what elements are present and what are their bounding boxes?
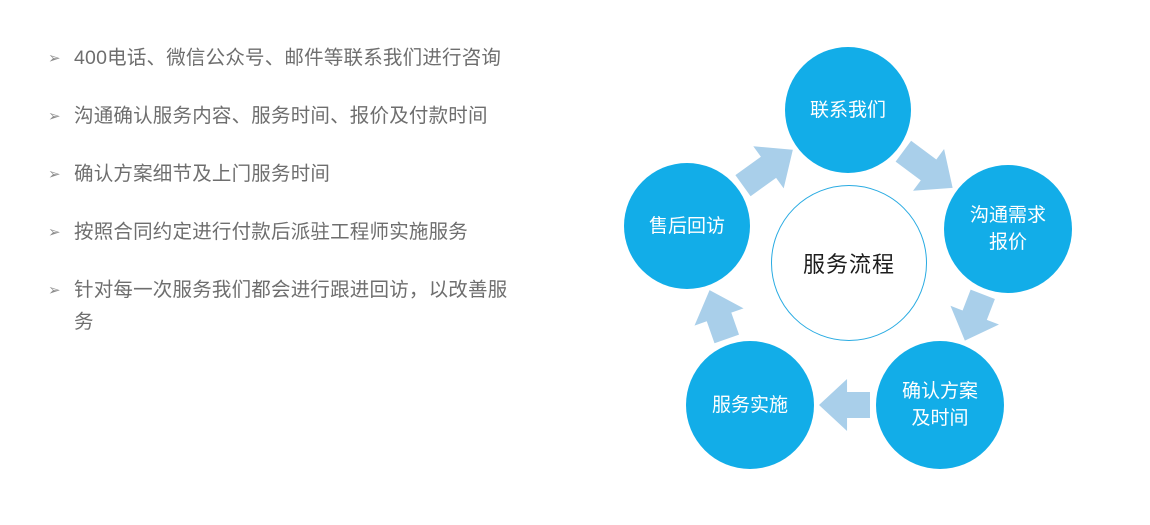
cycle-center-hub: 服务流程 bbox=[771, 185, 927, 341]
cycle-arrow-requirements-quote-to-confirm-plan-time bbox=[950, 290, 999, 341]
cycle-arrow-after-sales-visit-to-contact-us bbox=[735, 146, 792, 196]
cycle-node-label: 确认方案 bbox=[902, 378, 978, 405]
list-item: ➢确认方案细节及上门服务时间 bbox=[48, 158, 518, 190]
list-item: ➢针对每一次服务我们都会进行跟进回访，以改善服务 bbox=[48, 274, 518, 338]
cycle-node-label: 服务实施 bbox=[712, 392, 788, 419]
bullet-arrow-icon: ➢ bbox=[48, 158, 74, 190]
bullet-arrow-icon: ➢ bbox=[48, 274, 74, 306]
cycle-node-label: 报价 bbox=[989, 229, 1027, 256]
cycle-node-label: 及时间 bbox=[911, 405, 968, 432]
cycle-node-contact-us[interactable]: 联系我们 bbox=[785, 47, 911, 173]
bullet-arrow-icon: ➢ bbox=[48, 216, 74, 248]
service-steps-list: ➢400电话、微信公众号、邮件等联系我们进行咨询➢沟通确认服务内容、服务时间、报… bbox=[48, 42, 518, 364]
cycle-node-service-delivery[interactable]: 服务实施 bbox=[686, 341, 814, 469]
cycle-node-label: 联系我们 bbox=[810, 97, 886, 124]
list-item-text: 沟通确认服务内容、服务时间、报价及付款时间 bbox=[74, 100, 518, 132]
list-item: ➢沟通确认服务内容、服务时间、报价及付款时间 bbox=[48, 100, 518, 132]
bullet-arrow-icon: ➢ bbox=[48, 100, 74, 132]
cycle-arrow-confirm-plan-time-to-service-delivery bbox=[819, 379, 870, 431]
list-item: ➢400电话、微信公众号、邮件等联系我们进行咨询 bbox=[48, 42, 518, 74]
cycle-arrow-contact-us-to-requirements-quote bbox=[896, 141, 953, 191]
cycle-node-requirements-quote[interactable]: 沟通需求报价 bbox=[944, 165, 1072, 293]
list-item-text: 按照合同约定进行付款后派驻工程师实施服务 bbox=[74, 216, 518, 248]
list-item-text: 针对每一次服务我们都会进行跟进回访，以改善服务 bbox=[74, 274, 518, 338]
list-item-text: 确认方案细节及上门服务时间 bbox=[74, 158, 518, 190]
list-item-text: 400电话、微信公众号、邮件等联系我们进行咨询 bbox=[74, 42, 518, 74]
cycle-arrow-service-delivery-to-after-sales-visit bbox=[695, 290, 744, 343]
cycle-node-label: 售后回访 bbox=[649, 213, 725, 240]
cycle-node-after-sales-visit[interactable]: 售后回访 bbox=[624, 163, 750, 289]
list-item: ➢按照合同约定进行付款后派驻工程师实施服务 bbox=[48, 216, 518, 248]
cycle-node-confirm-plan-time[interactable]: 确认方案及时间 bbox=[876, 341, 1004, 469]
service-process-cycle-diagram: 服务流程 联系我们沟通需求报价确认方案及时间服务实施售后回访 bbox=[600, 0, 1100, 525]
cycle-node-label: 沟通需求 bbox=[970, 202, 1046, 229]
bullet-arrow-icon: ➢ bbox=[48, 42, 74, 74]
cycle-center-label: 服务流程 bbox=[803, 247, 895, 279]
